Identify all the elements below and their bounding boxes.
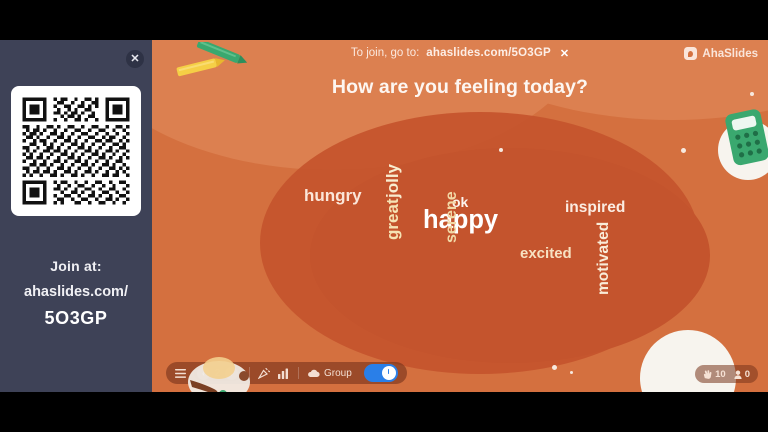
window-footer	[0, 392, 768, 432]
word-cloud: hungrygreatjollyokhappysereneinspiredexc…	[152, 40, 768, 392]
group-label: Group	[324, 368, 352, 379]
participants-counter[interactable]: 0	[734, 369, 750, 380]
word-cloud-item: hungry	[304, 187, 362, 204]
word-cloud-item: excited	[520, 246, 572, 261]
toolbar-divider-1	[249, 367, 250, 379]
qr-code-panel	[11, 86, 141, 216]
presenter-toggle[interactable]	[364, 364, 398, 382]
group-button[interactable]: Group	[307, 368, 352, 379]
presenter-toolbar: ‹ 2 › Group	[166, 362, 407, 384]
cloud-icon	[307, 369, 320, 378]
stats-bar: 10 0	[695, 365, 758, 383]
toolbar-divider-2	[298, 367, 299, 379]
join-url-text: ahaslides.com/	[24, 284, 128, 300]
qr-code-icon	[19, 94, 133, 208]
reactions-value: 10	[715, 369, 726, 380]
join-code-text: 5O3GP	[44, 308, 107, 329]
clap-icon	[703, 370, 712, 379]
confetti-icon[interactable]	[258, 367, 270, 379]
hamburger-menu-icon[interactable]	[175, 369, 186, 378]
word-cloud-item: motivated	[596, 222, 612, 295]
reactions-counter[interactable]: 10	[703, 369, 726, 380]
word-cloud-item: inspired	[565, 200, 625, 216]
slide-number: 2	[213, 368, 222, 379]
word-cloud-item: serene	[444, 191, 460, 243]
person-icon	[734, 370, 742, 379]
join-at-label: Join at:	[50, 258, 101, 274]
slide-stage: To join, go to: ahaslides.com/5O3GP ✕ Ah…	[152, 40, 768, 392]
close-icon[interactable]: ✕	[126, 50, 144, 68]
participants-value: 0	[745, 369, 750, 380]
bar-chart-icon[interactable]	[278, 368, 290, 379]
word-cloud-item: jolly	[384, 164, 401, 198]
app-window: ✕	[0, 0, 768, 432]
slide-pager: ‹ 2 ›	[194, 366, 241, 381]
join-sidebar: ✕	[0, 40, 152, 392]
word-cloud-item: happy	[423, 208, 498, 234]
next-slide-button[interactable]: ›	[225, 367, 238, 380]
prev-slide-button[interactable]: ‹	[197, 367, 210, 380]
toggle-knob	[382, 366, 396, 380]
word-cloud-item: great	[384, 198, 401, 240]
